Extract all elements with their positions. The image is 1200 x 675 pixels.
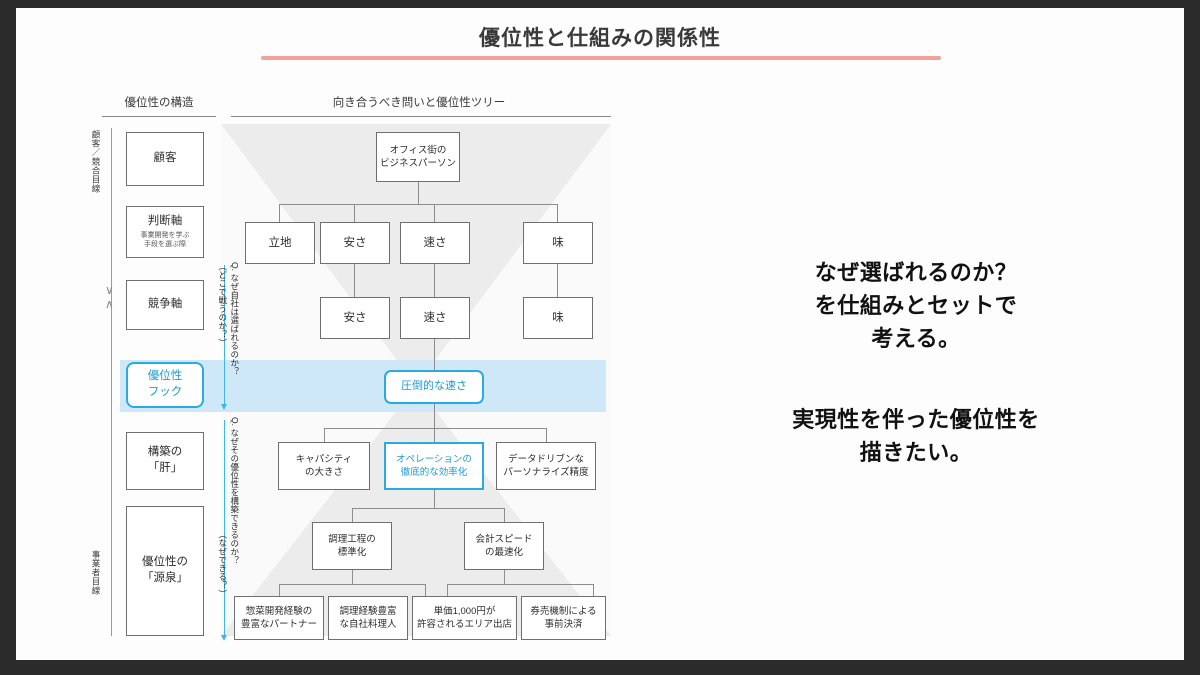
tree-node-competition-2[interactable]: 味 [523,297,593,339]
question-paren-1: （どこで戦うのか？） [216,262,229,347]
connector [279,584,425,585]
connector [279,204,557,205]
tree-node-mechanism-1[interactable]: 会計スピードの最速化 [464,522,544,570]
connector [434,264,435,297]
question-text-1: Q. なぜ自社は選ばれるのか？ [228,262,241,375]
tree-node-core-0[interactable]: キャパシティの大きさ [278,442,370,490]
structure-label-judgement: 判断軸 [148,214,183,230]
tree-node-core-2[interactable]: データドリブンなパーソナライズ精度 [496,442,596,490]
structure-label-core: 構築の「肝」 [148,445,183,476]
tree-node-source-3[interactable]: 券売機制による事前決済 [521,596,606,640]
tree-label-mechanism-1: 会計スピードの最速化 [475,533,532,560]
structure-box-competition[interactable]: 競争軸 [126,280,204,330]
connector [354,264,355,297]
tree-label-judgement-0: 立地 [269,235,292,251]
diagram-container: 優位性の構造 向き合うべき問いと優位性ツリー ∨ ∧ 顧客／競合目線 事業者目線… [64,80,654,650]
connector [425,584,426,596]
connector [279,584,280,596]
structure-box-judgement[interactable]: 判断軸 事業開発を学ぶ手段を選ぶ際 [126,206,204,258]
message-block-2: 実現性を伴った優位性を 描きたい。 [706,403,1126,469]
tree-node-judgement-2[interactable]: 速さ [400,222,470,264]
tree-node-root[interactable]: オフィス街のビジネスパーソン [376,132,460,182]
tree-label-hook: 圧倒的な速さ [401,379,467,394]
tree-label-source-0: 惣菜開発経験の豊富なパートナー [241,605,317,632]
tree-node-judgement-1[interactable]: 安さ [320,222,390,264]
tree-label-competition-0: 安さ [344,310,367,326]
right-section-header: 向き合うべき問いと優位性ツリー [269,94,569,110]
axis-arrow-down: ∨ [105,286,114,295]
tree-label-mechanism-0: 調理工程の標準化 [328,533,376,560]
connector [324,428,325,442]
connector [434,404,435,428]
connector [324,428,546,429]
tree-label-source-3: 券売機制による事前決済 [530,605,596,632]
structure-label-source: 優位性の「源泉」 [142,555,188,586]
tree-label-core-2: データドリブンなパーソナライズ精度 [503,453,588,480]
message-line-4: 実現性を伴った優位性を [706,403,1126,436]
structure-label-customer: 顧客 [154,151,177,167]
tree-label-root: オフィス街のビジネスパーソン [380,144,456,171]
left-section-rule [102,116,216,117]
connector [557,204,558,222]
tree-label-judgement-2: 速さ [424,235,447,251]
connector [279,204,280,222]
axis-label-customer: 顧客／競合目線 [90,130,102,193]
connector [418,182,419,204]
tree-label-core-1: オペレーションの徹底的な効率化 [396,453,472,480]
perspective-axis-line [111,128,112,636]
tree-label-source-1: 調理経験豊富な自社料理人 [339,605,396,632]
page-title: 優位性と仕組みの関係性 [16,22,1184,52]
structure-label-competition: 競争軸 [148,297,183,313]
tree-node-competition-1[interactable]: 速さ [400,297,470,339]
structure-sub-judgement: 事業開発を学ぶ手段を選ぶ際 [141,232,190,250]
structure-box-hook[interactable]: 優位性フック [126,362,204,408]
connector [352,508,504,509]
message-line-3: 考える。 [706,322,1126,355]
structure-box-source[interactable]: 優位性の「源泉」 [126,506,204,636]
tree-node-source-1[interactable]: 調理経験豊富な自社料理人 [328,596,408,640]
tree-node-source-0[interactable]: 惣菜開発経験の豊富なパートナー [234,596,324,640]
connector [434,428,435,442]
structure-label-hook: 優位性フック [148,369,183,400]
structure-box-core[interactable]: 構築の「肝」 [126,432,204,490]
connector [434,339,435,370]
left-section-header: 優位性の構造 [94,94,224,110]
tree-node-judgement-0[interactable]: 立地 [245,222,315,264]
message-line-1: なぜ選ばれるのか？ [706,256,1126,289]
tree-label-judgement-3: 味 [552,235,564,251]
structure-box-customer[interactable]: 顧客 [126,132,204,186]
connector [352,570,353,584]
message-block-1: なぜ選ばれるのか？ を仕組みとセットで 考える。 [706,256,1126,355]
tree-label-source-2: 単価1,000円が許容されるエリア出店 [417,605,512,632]
message-line-5: 描きたい。 [706,436,1126,469]
axis-arrow-up: ∧ [105,300,114,309]
axis-label-operator: 事業者目線 [90,550,102,595]
question-paren-2: （なぜできる？） [216,530,229,598]
message-line-2: を仕組みとセットで [706,289,1126,322]
slide: 優位性と仕組みの関係性 優位性の構造 向き合うべき問いと優位性ツリー ∨ ∧ 顧… [16,8,1184,660]
connector [447,584,448,596]
tree-label-core-0: キャパシティの大きさ [296,453,352,480]
connector [504,570,505,584]
connector [504,508,505,522]
tree-node-mechanism-0[interactable]: 調理工程の標準化 [312,522,392,570]
tree-label-competition-2: 味 [552,310,564,326]
title-underline [261,56,941,60]
tree-label-competition-1: 速さ [424,310,447,326]
tree-label-judgement-1: 安さ [344,235,367,251]
tree-node-source-2[interactable]: 単価1,000円が許容されるエリア出店 [412,596,517,640]
question-text-2: Q. なぜその優位性を構築できるのか？ [228,417,241,564]
connector [447,584,593,585]
connector [593,584,594,596]
tree-node-competition-0[interactable]: 安さ [320,297,390,339]
connector [434,204,435,222]
tree-node-judgement-3[interactable]: 味 [523,222,593,264]
connector [434,490,435,508]
connector [354,204,355,222]
connector [352,508,353,522]
connector [546,428,547,442]
question-arrow-2 [224,420,225,636]
tree-node-hook[interactable]: 圧倒的な速さ [384,370,484,404]
connector [557,264,558,297]
tree-node-core-1[interactable]: オペレーションの徹底的な効率化 [384,442,484,490]
right-section-rule [231,116,611,117]
